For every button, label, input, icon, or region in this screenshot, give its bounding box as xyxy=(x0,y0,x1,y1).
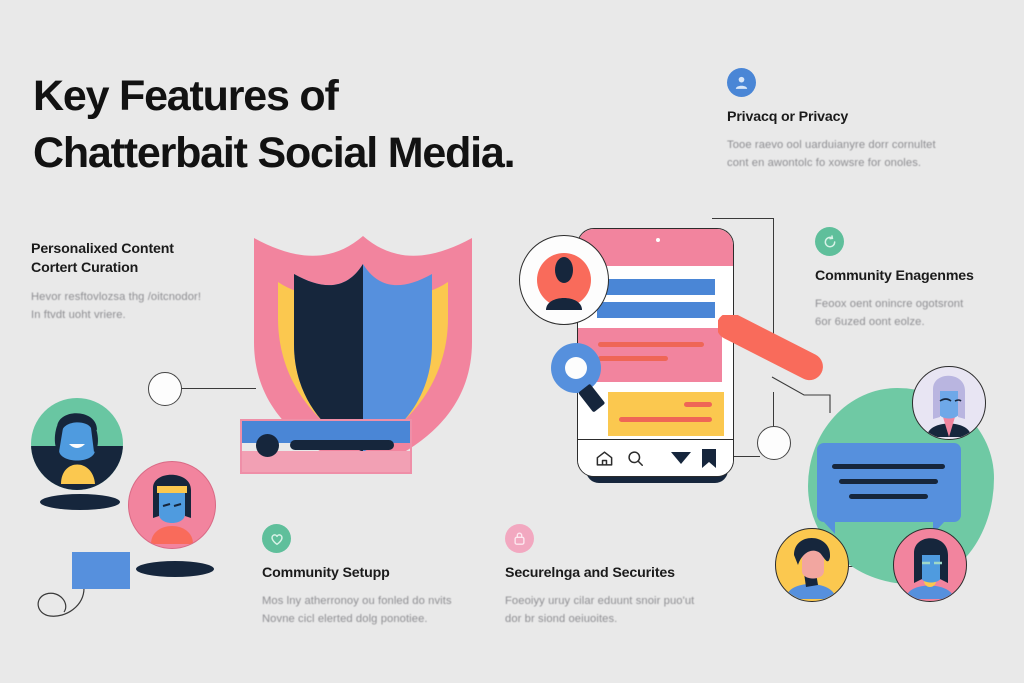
connector-line-phone-top xyxy=(712,218,774,219)
feature-community-setup: Community Setupp Mos lny atherronoy ou f… xyxy=(262,524,477,629)
infographic-canvas: Key Features of Chatterbait Social Media… xyxy=(0,0,1024,683)
search-magnifier-icon xyxy=(546,340,616,412)
avatar-pink-shadow xyxy=(136,561,214,577)
heart-icon xyxy=(262,524,291,553)
chat-card-line-2 xyxy=(839,479,938,484)
feature-title-line-1: Securelnga and Securites xyxy=(505,564,720,583)
connector-node-phone xyxy=(757,426,791,460)
connector-node-left xyxy=(148,372,182,406)
feature-body: Tooe raevo ool uarduianyre dorr cornulte… xyxy=(727,136,972,172)
user-privacy-icon xyxy=(727,68,756,97)
slider-knob[interactable] xyxy=(256,434,279,457)
chat-card-line-1 xyxy=(832,464,945,469)
feature-personalized-content: Personalixed Content Cortert Curation He… xyxy=(31,240,246,324)
feature-title-line-1: Community Setupp xyxy=(262,564,477,583)
feed-bar-2 xyxy=(597,302,715,318)
bookmark-icon[interactable] xyxy=(702,449,716,468)
feature-title-line-2: Cortert Curation xyxy=(31,259,246,278)
feature-title-line-1: Community Enagenmes xyxy=(815,267,1005,286)
feature-body-line-1: Hevor resftovlozsa thg /oitcnodor! xyxy=(31,288,246,306)
avatar-pink xyxy=(128,461,216,549)
settings-slider-card[interactable] xyxy=(240,419,412,474)
profile-avatar-badge xyxy=(519,235,609,325)
pointer-arrow xyxy=(718,315,828,395)
chat-card-line-3 xyxy=(849,494,928,499)
feature-body-line-2: Novne cicl elerted dolg ponotiee. xyxy=(262,610,477,628)
feature-body: Mos lny atherronoy ou fonled do nvits No… xyxy=(262,592,477,628)
search-icon[interactable] xyxy=(626,449,645,468)
feature-title-line-1: Privacq or Privacy xyxy=(727,108,972,127)
feature-title: Personalixed Content Cortert Curation xyxy=(31,240,246,279)
slider-track[interactable] xyxy=(290,440,394,450)
feature-title: Community Enagenmes xyxy=(815,267,1005,286)
dropdown-triangle-icon[interactable] xyxy=(671,451,691,465)
feed-card-yellow-line-2 xyxy=(619,417,712,422)
feature-body-line-2: 6or 6uzed oont eolze. xyxy=(815,313,1005,331)
feature-privacy: Privacq or Privacy Tooe raevo ool uardui… xyxy=(727,68,972,173)
feed-bar-1 xyxy=(597,279,715,295)
group-chat-card xyxy=(817,443,961,522)
feature-body-line-2: dor br siond oeiuoites. xyxy=(505,610,720,628)
feature-body: Feoox oent onincre ogotsront 6or 6uzed o… xyxy=(815,295,1005,331)
feature-body-line-2: cont en awontolc fo xowsre for onoles. xyxy=(727,154,972,172)
feature-body-line-1: Feoox oent onincre ogotsront xyxy=(815,295,1005,313)
feature-title: Securelnga and Securites xyxy=(505,564,720,583)
lock-icon xyxy=(505,524,534,553)
feature-title: Community Setupp xyxy=(262,564,477,583)
feature-community-engagement: Community Enagenmes Feoox oent onincre o… xyxy=(815,227,1005,332)
feed-card-yellow xyxy=(608,392,724,436)
feature-body: Hevor resftovlozsa thg /oitcnodor! In ft… xyxy=(31,288,246,324)
feature-title: Privacq or Privacy xyxy=(727,108,972,127)
phone-camera-dot xyxy=(656,238,660,242)
avatar-green-shadow xyxy=(40,494,120,510)
avatar-lavender xyxy=(912,366,986,440)
feature-body: Foeoiyy uruy cilar eduunt snoir puo'ut d… xyxy=(505,592,720,628)
feature-body-line-1: Tooe raevo ool uarduianyre dorr cornulte… xyxy=(727,136,972,154)
feed-card-yellow-line-1 xyxy=(684,402,712,407)
avatar-pink-2 xyxy=(893,528,967,602)
speech-bubble-blue xyxy=(72,552,130,589)
phone-bottom-nav xyxy=(578,439,733,476)
avatar-yellow xyxy=(775,528,849,602)
page-title: Key Features of Chatterbait Social Media… xyxy=(33,68,514,182)
avatar-green xyxy=(31,398,123,490)
feature-title-line-1: Personalixed Content xyxy=(31,240,246,259)
title-line-1: Key Features of xyxy=(33,68,514,125)
chat-refresh-icon xyxy=(815,227,844,256)
feature-security: Securelnga and Securites Foeoiyy uruy ci… xyxy=(505,524,720,629)
home-icon[interactable] xyxy=(595,449,614,468)
feature-body-line-1: Mos lny atherronoy ou fonled do nvits xyxy=(262,592,477,610)
feature-body-line-1: Foeoiyy uruy cilar eduunt snoir puo'ut xyxy=(505,592,720,610)
title-line-2: Chatterbait Social Media. xyxy=(33,125,514,182)
feature-body-line-2: In ftvdt uoht vriere. xyxy=(31,306,246,324)
